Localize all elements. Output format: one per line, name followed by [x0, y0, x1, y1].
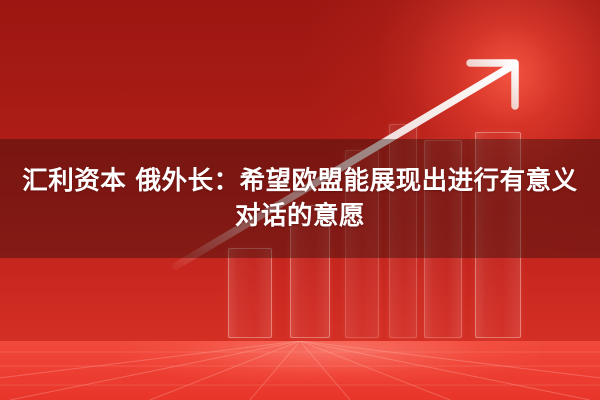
caption-line-2: 对话的意愿 — [235, 203, 365, 230]
news-thumbnail-image: 汇利资本 俄外长：希望欧盟能展现出进行有意义 对话的意愿 — [0, 0, 600, 400]
caption-text-block: 汇利资本 俄外长：希望欧盟能展现出进行有意义 对话的意愿 — [0, 139, 600, 258]
chart-bar-1 — [228, 248, 272, 338]
caption-line-1: 汇利资本 俄外长：希望欧盟能展现出进行有意义 — [22, 168, 577, 195]
